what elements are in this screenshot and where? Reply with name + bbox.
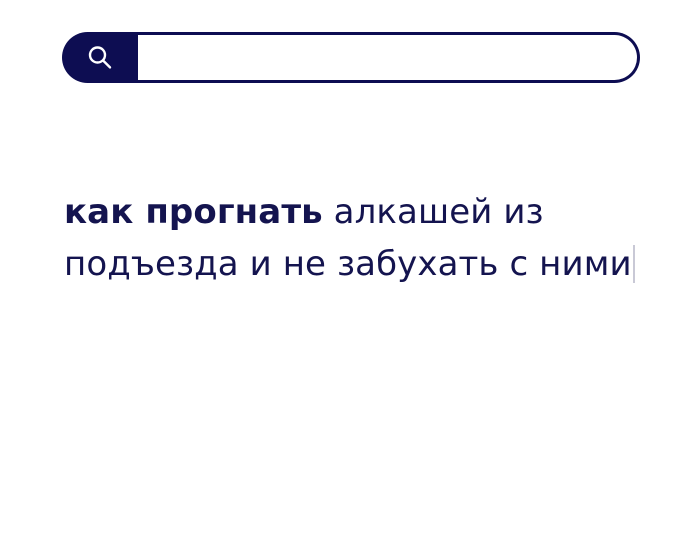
query-line-1: как прогнать алкашей из (64, 186, 664, 238)
search-bar[interactable] (62, 32, 640, 83)
query-line-1-regular: алкашей из (323, 192, 544, 232)
search-input[interactable] (137, 32, 640, 83)
search-icon-button[interactable] (62, 32, 138, 83)
query-line-2: подъезда и не забухать с ними (64, 238, 664, 290)
query-line-2-regular: подъезда и не забухать с ними (64, 244, 632, 284)
text-caret (633, 245, 635, 283)
search-icon (85, 43, 115, 73)
query-text-block: как прогнать алкашей из подъезда и не за… (64, 186, 664, 290)
query-line-1-bold: как прогнать (64, 192, 323, 232)
